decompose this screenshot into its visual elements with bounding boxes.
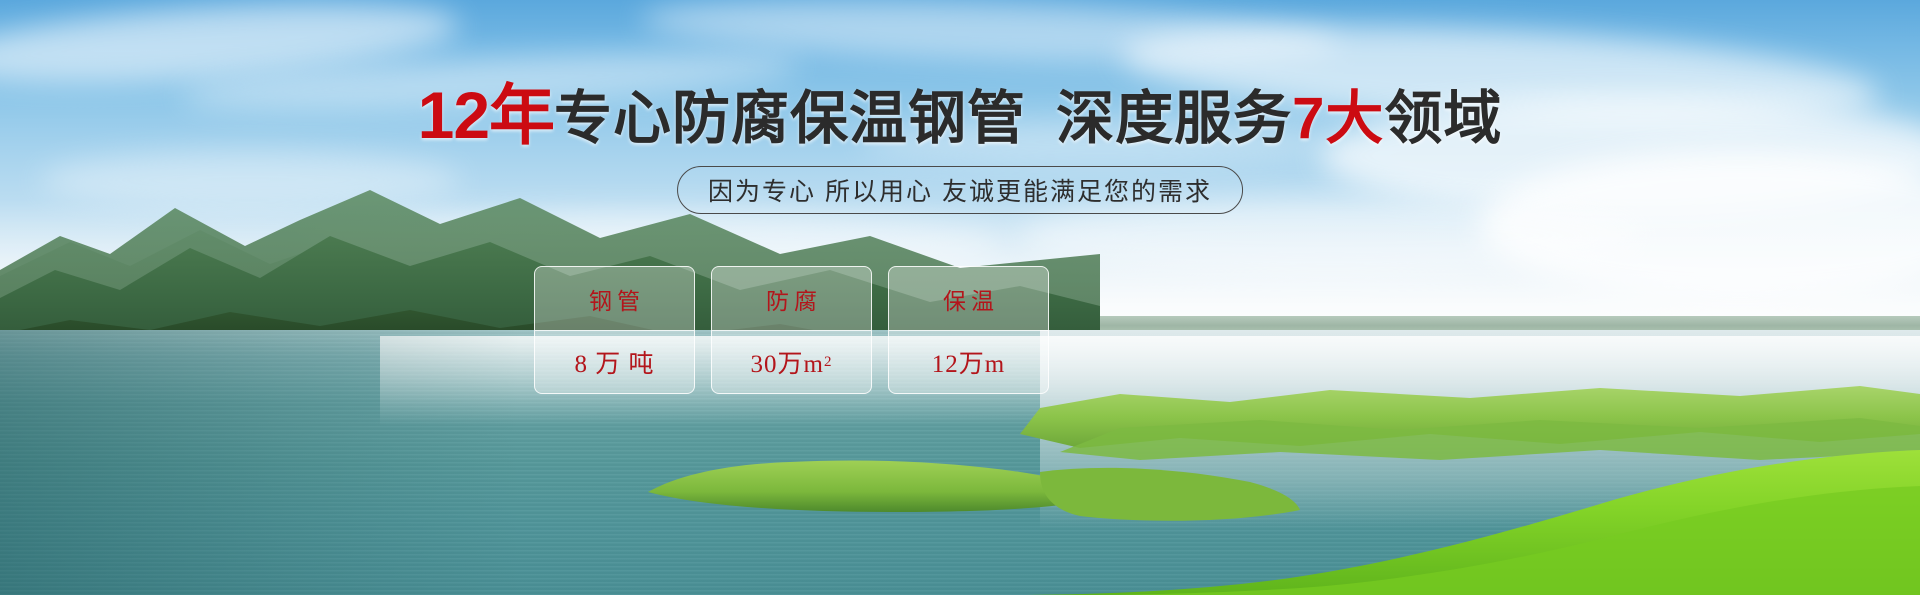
stat-label: 钢管 [584, 267, 645, 330]
stat-value: 30万m2 [751, 330, 833, 393]
stat-card-insulation: 保温 12万m [888, 266, 1049, 394]
headline-service: 深度服务 [1056, 86, 1292, 151]
stat-value-text: 12万m [932, 344, 1005, 380]
stat-card-steel-pipe: 钢管 8 万 吨 [534, 266, 695, 394]
hero-banner: 12年专心防腐保温钢管深度服务7大领域 因为专心 所以用心 友诚更能满足您的需求… [0, 0, 1920, 595]
water-shadow-left [0, 330, 520, 595]
subtitle-text: 因为专心 所以用心 友诚更能满足您的需求 [708, 172, 1212, 208]
banner-headline: 12年专心防腐保温钢管深度服务7大领域 [0, 84, 1920, 150]
stat-value-text: 30万m [751, 344, 824, 380]
stat-value: 8 万 吨 [574, 330, 654, 393]
foreground-grass [960, 430, 1920, 595]
headline-years: 12年 [418, 78, 554, 152]
subtitle-pill: 因为专心 所以用心 友诚更能满足您的需求 [677, 166, 1243, 214]
headline-seven-fields: 7大 [1292, 86, 1384, 151]
stat-label: 防腐 [761, 267, 822, 330]
stat-card-group: 钢管 8 万 吨 防腐 30万m2 保温 12万m [534, 266, 1049, 394]
headline-fields: 领域 [1384, 86, 1502, 151]
headline-main: 专心防腐保温钢管 [554, 86, 1026, 151]
stat-value-text: 8 万 吨 [574, 344, 654, 380]
stat-card-anticorrosion: 防腐 30万m2 [711, 266, 872, 394]
stat-value: 12万m [932, 330, 1005, 393]
stat-label: 保温 [938, 267, 999, 330]
